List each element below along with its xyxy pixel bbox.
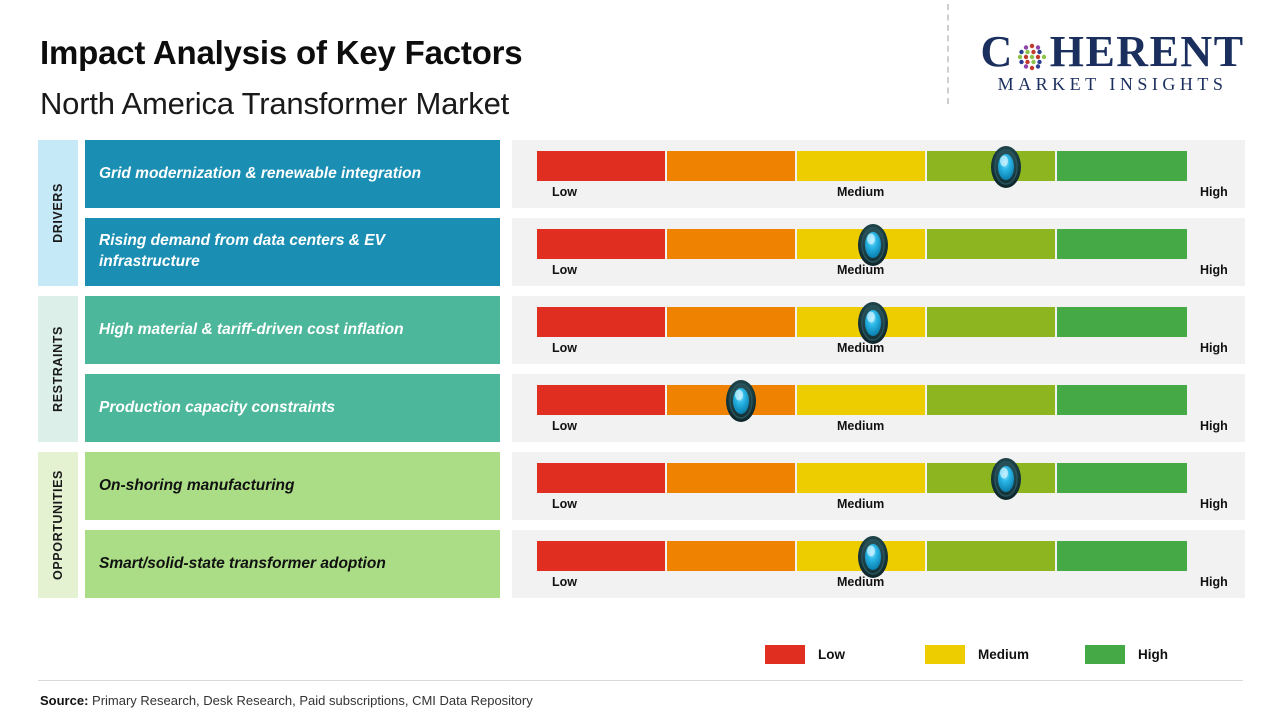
gauge-bar[interactable] [537,385,1187,415]
scale-label-medium: Medium [837,497,884,511]
category-band-opportunities: OPPORTUNITIES [38,452,78,598]
factor-label: High material & tariff-driven cost infla… [99,320,404,341]
company-logo: C [960,22,1265,102]
gauge-scale-labels: LowMediumHigh [512,419,1245,439]
legend-swatch [765,645,805,664]
gauge-segment-2 [667,307,797,337]
logo-tagline: MARKET INSIGHTS [960,74,1265,95]
scale-label-low: Low [552,185,577,199]
scale-label-high: High [1200,341,1228,355]
gauge-row: LowMediumHigh [512,452,1245,520]
gauge-bar[interactable] [537,463,1187,493]
gauge-segment-5 [1057,541,1187,571]
scale-label-medium: Medium [837,341,884,355]
factor-box[interactable]: Rising demand from data centers & EV inf… [85,218,500,286]
legend-item: Low [765,645,845,664]
page-subtitle: North America Transformer Market [40,86,509,122]
logo-letter-c: C [980,26,1013,78]
category-band-label: DRIVERS [51,183,65,243]
gauge-scale-labels: LowMediumHigh [512,185,1245,205]
legend-item: High [1085,645,1168,664]
gauge-segment-4 [927,463,1057,493]
gauge-bar[interactable] [537,307,1187,337]
gauge-segment-3 [797,463,927,493]
gauge-scale-labels: LowMediumHigh [512,497,1245,517]
gauge-segment-1 [537,541,667,571]
factor-label: Rising demand from data centers & EV inf… [99,231,486,273]
gauge-segment-1 [537,229,667,259]
category-band-label: RESTRAINTS [51,326,65,412]
gauge-segment-1 [537,307,667,337]
impact-legend: LowMediumHigh [765,645,1185,669]
source-label: Source: [40,693,88,708]
header-dashed-divider [947,4,949,104]
gauge-segment-5 [1057,151,1187,181]
legend-item: Medium [925,645,1029,664]
scale-label-low: Low [552,497,577,511]
category-band-drivers: DRIVERS [38,140,78,286]
gauge-segment-1 [537,385,667,415]
gauge-segment-5 [1057,307,1187,337]
gauge-segment-5 [1057,229,1187,259]
factor-label: Production capacity constraints [99,398,335,419]
scale-label-medium: Medium [837,263,884,277]
gauge-row: LowMediumHigh [512,140,1245,208]
page-header: Impact Analysis of Key Factors North Ame… [0,0,1280,130]
gauge-segment-1 [537,151,667,181]
legend-label: High [1138,647,1168,662]
factor-label: Grid modernization & renewable integrati… [99,164,421,185]
scale-label-high: High [1200,185,1228,199]
scale-label-low: Low [552,341,577,355]
footer-divider [38,680,1243,681]
factor-box[interactable]: Smart/solid-state transformer adoption [85,530,500,598]
impact-matrix: DRIVERSRESTRAINTSOPPORTUNITIESGrid moder… [0,140,1280,610]
source-text: Primary Research, Desk Research, Paid su… [88,693,532,708]
scale-label-medium: Medium [837,575,884,589]
category-band-restraints: RESTRAINTS [38,296,78,442]
gauge-scale-labels: LowMediumHigh [512,575,1245,595]
gauge-segment-2 [667,463,797,493]
source-note: Source: Primary Research, Desk Research,… [40,693,533,708]
gauge-segment-2 [667,151,797,181]
category-band-label: OPPORTUNITIES [51,470,65,580]
factor-box[interactable]: Production capacity constraints [85,374,500,442]
factor-label: On-shoring manufacturing [99,476,294,497]
factor-box[interactable]: High material & tariff-driven cost infla… [85,296,500,364]
gauge-segment-3 [797,229,927,259]
factor-label: Smart/solid-state transformer adoption [99,554,386,575]
legend-swatch [1085,645,1125,664]
legend-swatch [925,645,965,664]
gauge-row: LowMediumHigh [512,218,1245,286]
legend-label: Medium [978,647,1029,662]
gauge-bar[interactable] [537,229,1187,259]
gauge-segment-5 [1057,385,1187,415]
gauge-segment-2 [667,541,797,571]
legend-label: Low [818,647,845,662]
gauge-segment-3 [797,307,927,337]
gauge-segment-2 [667,229,797,259]
gauge-bar[interactable] [537,151,1187,181]
gauge-segment-3 [797,151,927,181]
gauge-segment-4 [927,151,1057,181]
gauge-segment-5 [1057,463,1187,493]
gauge-segment-1 [537,463,667,493]
gauge-segment-2 [667,385,797,415]
gauge-scale-labels: LowMediumHigh [512,341,1245,361]
gauge-segment-4 [927,229,1057,259]
gauge-row: LowMediumHigh [512,296,1245,364]
scale-label-low: Low [552,419,577,433]
scale-label-low: Low [552,263,577,277]
logo-wordmark: C [960,22,1265,78]
logo-letters-herent: HERENT [1050,26,1245,78]
scale-label-high: High [1200,263,1228,277]
gauge-row: LowMediumHigh [512,530,1245,598]
scale-label-low: Low [552,575,577,589]
page-title: Impact Analysis of Key Factors [40,34,522,72]
gauge-segment-4 [927,307,1057,337]
scale-label-medium: Medium [837,419,884,433]
gauge-segment-4 [927,385,1057,415]
scale-label-medium: Medium [837,185,884,199]
scale-label-high: High [1200,497,1228,511]
gauge-segment-3 [797,385,927,415]
gauge-segment-3 [797,541,927,571]
factor-box[interactable]: Grid modernization & renewable integrati… [85,140,500,208]
factor-box[interactable]: On-shoring manufacturing [85,452,500,520]
scale-label-high: High [1200,419,1228,433]
dotted-globe-icon [1015,34,1049,68]
gauge-row: LowMediumHigh [512,374,1245,442]
gauge-scale-labels: LowMediumHigh [512,263,1245,283]
gauge-segment-4 [927,541,1057,571]
scale-label-high: High [1200,575,1228,589]
gauge-bar[interactable] [537,541,1187,571]
